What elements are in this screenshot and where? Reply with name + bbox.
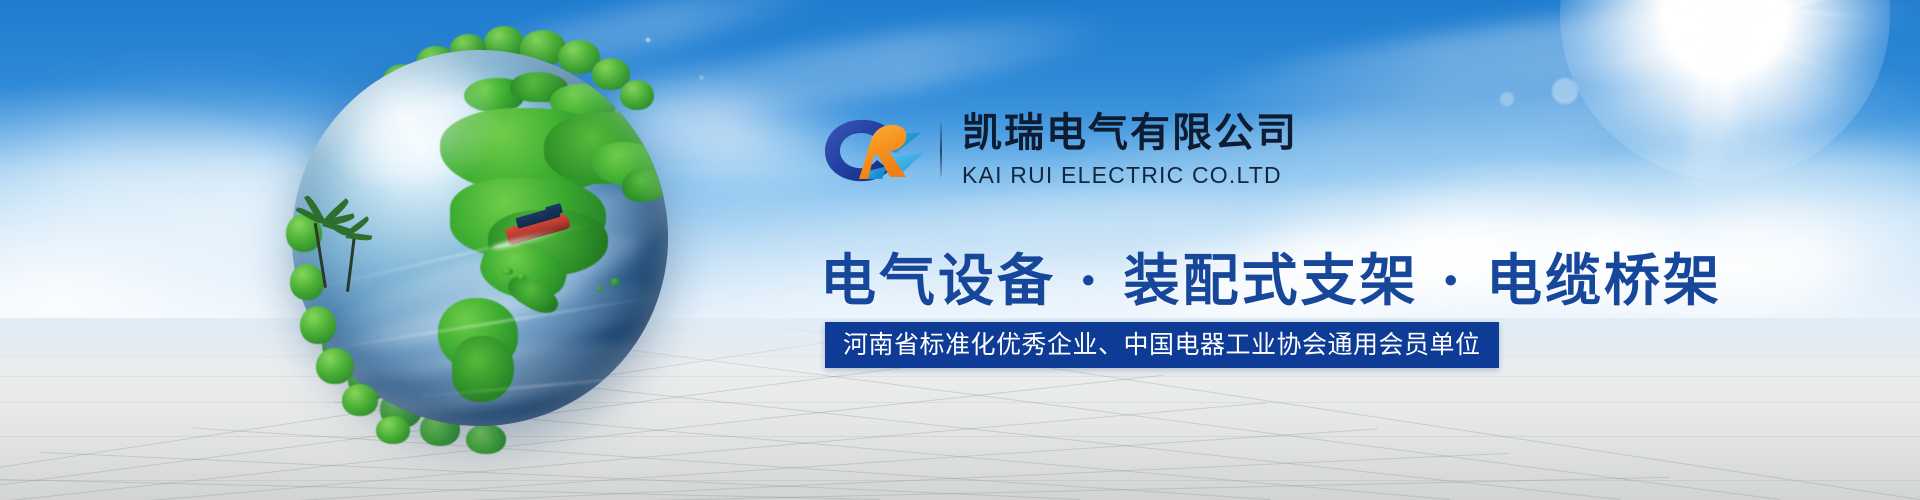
credentials-badge: 河南省标准化优秀企业、中国电器工业协会通用会员单位 [825, 322, 1499, 368]
company-hero-banner: 凯瑞电气有限公司 KAI RUI ELECTRIC CO.LTD 电气设备 · … [0, 0, 1920, 500]
credentials-badge-text: 河南省标准化优秀企业、中国电器工业协会通用会员单位 [843, 333, 1481, 358]
brand-text-block: 凯瑞电气有限公司 KAI RUI ELECTRIC CO.LTD [962, 112, 1298, 188]
cr-monogram-logo-icon [822, 113, 926, 187]
brand-divider [940, 123, 942, 177]
brand-lockup: 凯瑞电气有限公司 KAI RUI ELECTRIC CO.LTD [822, 112, 1298, 188]
company-name-cn: 凯瑞电气有限公司 [962, 112, 1298, 154]
hero-tagline: 电气设备 · 装配式支架 · 电缆桥架 [820, 236, 1722, 317]
company-name-en: KAI RUI ELECTRIC CO.LTD [962, 162, 1298, 188]
